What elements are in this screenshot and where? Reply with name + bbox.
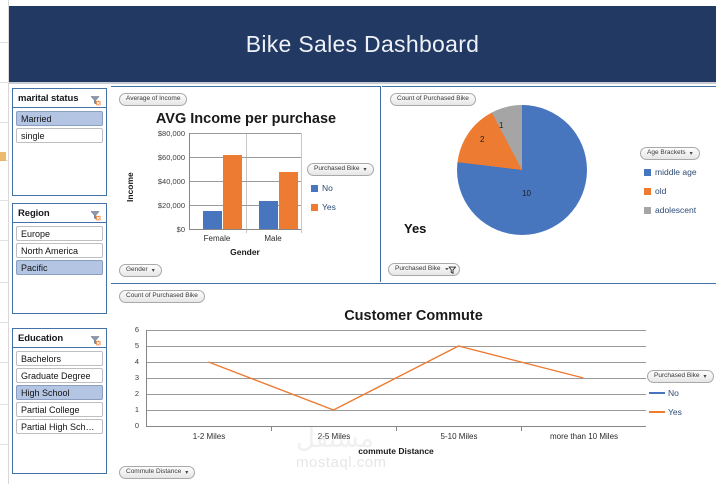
slicer-header: marital status — [13, 89, 106, 108]
x-axis-title: commute Distance — [146, 446, 646, 456]
x-tick-label: 2-5 Miles — [291, 432, 377, 441]
field-button-purchased-bike-legend[interactable]: Purchased Bike ▾ — [307, 163, 374, 176]
bar-female-no[interactable] — [203, 211, 222, 229]
legend-swatch-icon — [644, 169, 651, 176]
field-button-label: Purchased Bike — [314, 166, 360, 173]
x-axis-line — [189, 229, 301, 230]
legend-label: No — [668, 388, 679, 398]
spreadsheet-row-gutter — [0, 0, 9, 484]
clear-filter-icon[interactable] — [90, 93, 101, 104]
slicer-items: Married single — [13, 108, 106, 148]
field-button-purchased-bike-filter[interactable]: Purchased Bike — [388, 263, 460, 276]
field-button-label: Gender — [126, 267, 148, 274]
slicer-items: Bachelors Graduate Degree High School Pa… — [13, 348, 106, 439]
legend-item-yes[interactable]: Yes — [311, 202, 336, 212]
legend-swatch-icon — [311, 204, 318, 211]
slicer-education[interactable]: Education Bachelors Graduate Degree High… — [12, 328, 107, 474]
field-button-gender[interactable]: Gender ▾ — [119, 264, 162, 277]
legend-swatch-icon — [644, 207, 651, 214]
y-tick-label: $60,000 — [129, 153, 185, 162]
field-button-label: Purchased Bike — [395, 266, 441, 273]
slicer-marital-status[interactable]: marital status Married single — [12, 88, 107, 196]
slicer-header: Education — [13, 329, 106, 348]
legend-label: Yes — [668, 407, 682, 417]
slicer-item-high-school[interactable]: High School — [16, 385, 103, 400]
pie-category-label: Yes — [404, 221, 426, 236]
slicer-items: Europe North America Pacific — [13, 223, 106, 280]
legend-item-old[interactable]: old — [644, 186, 697, 196]
slicer-item-label: North America — [21, 246, 78, 256]
pie-chart-legend: middle age old adolescent — [644, 167, 697, 224]
slicer-item-label: Married — [21, 114, 52, 124]
bar-female-yes[interactable] — [223, 155, 242, 229]
legend-item-adolescent[interactable]: adolescent — [644, 205, 697, 215]
slicer-item-label: Partial College — [21, 405, 80, 415]
field-button-purchased-bike-line-legend[interactable]: Purchased Bike ▾ — [647, 370, 714, 383]
field-button-label: Purchased Bike — [654, 373, 700, 380]
slicer-item-partial-college[interactable]: Partial College — [16, 402, 103, 417]
slicer-item-label: Bachelors — [21, 354, 61, 364]
legend-label: old — [655, 186, 666, 196]
line-chart-legend: No Yes — [649, 388, 682, 426]
field-button-label: Commute Distance — [126, 469, 181, 476]
page-title: Bike Sales Dashboard — [246, 31, 480, 58]
slicer-item-label: High School — [21, 388, 70, 398]
dashboard-root: Bike Sales Dashboard marital status Marr… — [0, 0, 716, 484]
header-divider — [9, 82, 716, 84]
x-tick-label: more than 10 Miles — [529, 432, 639, 441]
bar-male-yes[interactable] — [279, 172, 298, 229]
y-tick-label: $80,000 — [129, 129, 185, 138]
pie-data-label-middle-age: 10 — [522, 189, 531, 198]
x-tick-label: Female — [195, 234, 239, 243]
x-tick-label: 5-10 Miles — [416, 432, 502, 441]
slicer-item-pacific[interactable]: Pacific — [16, 260, 103, 275]
slicer-title: Region — [18, 208, 50, 219]
slicer-item-label: Pacific — [21, 263, 48, 273]
field-button-label: Count of Purchased Bike — [397, 96, 469, 103]
clear-filter-icon[interactable] — [90, 333, 101, 344]
legend-item-no[interactable]: No — [311, 183, 336, 193]
bar-chart-panel: Average of Income AVG Income per purchas… — [111, 86, 381, 282]
legend-label: middle age — [655, 167, 697, 177]
legend-item-yes[interactable]: Yes — [649, 407, 682, 417]
y-tick-label: $0 — [129, 225, 185, 234]
slicer-item-graduate-degree[interactable]: Graduate Degree — [16, 368, 103, 383]
field-button-average-of-income[interactable]: Average of Income — [119, 93, 187, 106]
legend-item-no[interactable]: No — [649, 388, 682, 398]
slicer-item-married[interactable]: Married — [16, 111, 103, 126]
slicer-item-single[interactable]: single — [16, 128, 103, 143]
chevron-down-icon: ▾ — [690, 151, 693, 157]
slicer-column: marital status Married single Region — [9, 86, 110, 484]
field-button-label: Average of Income — [126, 96, 180, 103]
y-tick-label: $40,000 — [129, 177, 185, 186]
legend-swatch-icon — [311, 185, 318, 192]
y-tick-label: $20,000 — [129, 201, 185, 210]
slicer-item-bachelors[interactable]: Bachelors — [16, 351, 103, 366]
chevron-down-icon: ▾ — [152, 268, 155, 274]
plot-area — [190, 133, 302, 229]
slicer-item-europe[interactable]: Europe — [16, 226, 103, 241]
pie-chart-graphic[interactable] — [457, 105, 587, 235]
clear-filter-icon[interactable] — [90, 208, 101, 219]
slicer-item-north-america[interactable]: North America — [16, 243, 103, 258]
x-tick-label: Male — [251, 234, 295, 243]
slicer-item-partial-high-school[interactable]: Partial High Sch… — [16, 419, 103, 434]
field-button-label: Age Brackets — [647, 150, 686, 157]
dashboard-header: Bike Sales Dashboard — [9, 6, 716, 82]
bar-chart-legend: No Yes — [311, 183, 336, 221]
field-button-count-of-purchased-bike[interactable]: Count of Purchased Bike — [390, 93, 476, 106]
legend-label: adolescent — [655, 205, 696, 215]
legend-swatch-icon — [644, 188, 651, 195]
line-chart-panel: Count of Purchased Bike Customer Commute… — [111, 283, 716, 484]
slicer-title: Education — [18, 333, 63, 344]
bar-chart-title: AVG Income per purchase — [111, 111, 381, 127]
pie-chart-panel: Count of Purchased Bike 10 2 1 Yes Age B… — [382, 86, 716, 282]
x-tick-label: 1-2 Miles — [166, 432, 252, 441]
slicer-item-label: Europe — [21, 229, 50, 239]
slicer-header: Region — [13, 204, 106, 223]
slicer-region[interactable]: Region Europe North America Pacific — [12, 203, 107, 314]
chevron-down-icon: ▾ — [185, 470, 188, 476]
legend-item-middle-age[interactable]: middle age — [644, 167, 697, 177]
field-button-commute-distance[interactable]: Commute Distance ▾ — [119, 466, 195, 479]
x-axis-title: Gender — [189, 247, 301, 257]
legend-line-icon — [649, 411, 665, 413]
slicer-item-label: Graduate Degree — [21, 371, 91, 381]
chevron-down-icon: ▾ — [704, 374, 707, 380]
field-button-age-brackets[interactable]: Age Brackets ▾ — [640, 147, 700, 160]
legend-label: No — [322, 183, 333, 193]
slicer-item-label: single — [21, 131, 45, 141]
filter-funnel-icon — [445, 266, 453, 274]
chevron-down-icon: ▾ — [364, 167, 367, 173]
slicer-item-label: Partial High Sch… — [21, 422, 95, 432]
legend-label: Yes — [322, 202, 336, 212]
legend-line-icon — [649, 392, 665, 394]
pie-data-label-adolescent: 1 — [499, 121, 503, 130]
y-axis-title: Income — [125, 172, 135, 202]
bar-male-no[interactable] — [259, 201, 278, 229]
slicer-title: marital status — [18, 93, 78, 104]
pie-data-label-old: 2 — [480, 135, 484, 144]
